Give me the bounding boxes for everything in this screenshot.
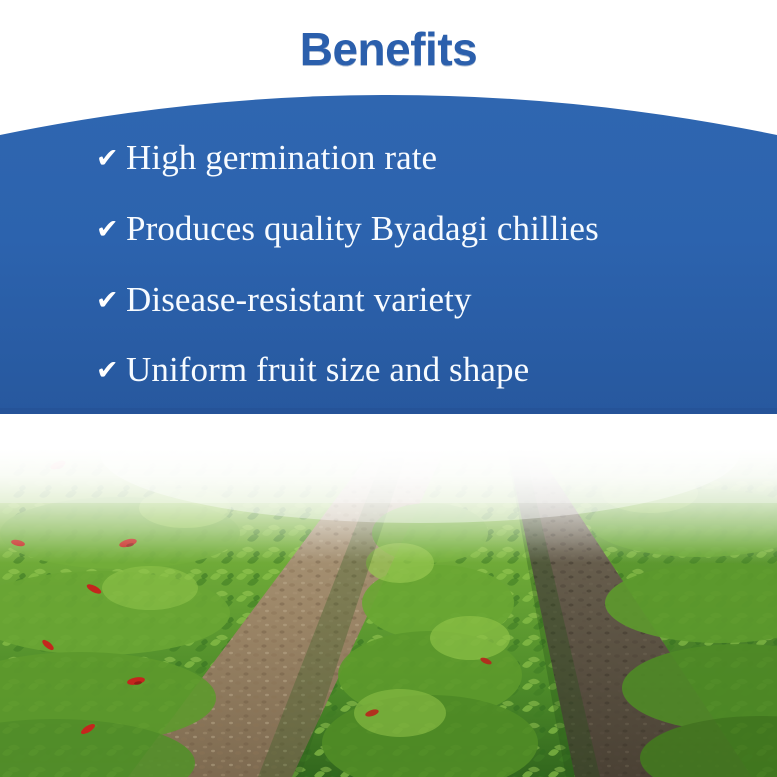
- benefit-label: High germination rate: [126, 138, 437, 178]
- benefit-item: ✔ Uniform fruit size and shape: [96, 350, 529, 390]
- benefit-item: ✔ High germination rate: [96, 138, 437, 178]
- benefit-label: Disease-resistant variety: [126, 280, 472, 320]
- benefits-list: ✔ High germination rate ✔ Produces quali…: [0, 78, 777, 414]
- benefit-item: ✔ Produces quality Byadagi chillies: [96, 209, 599, 249]
- benefit-item: ✔ Disease-resistant variety: [96, 280, 472, 320]
- check-icon: ✔: [96, 216, 126, 243]
- page-title: Benefits: [300, 22, 477, 76]
- check-icon: ✔: [96, 357, 126, 384]
- check-icon: ✔: [96, 287, 126, 314]
- title-area: Benefits: [0, 0, 777, 100]
- benefit-label: Uniform fruit size and shape: [126, 350, 529, 390]
- check-icon: ✔: [96, 145, 126, 172]
- benefits-infographic: Benefits ✔ High germination rate ✔ Pro: [0, 0, 777, 777]
- benefit-label: Produces quality Byadagi chillies: [126, 209, 599, 249]
- chilli-field-photo: [0, 413, 777, 777]
